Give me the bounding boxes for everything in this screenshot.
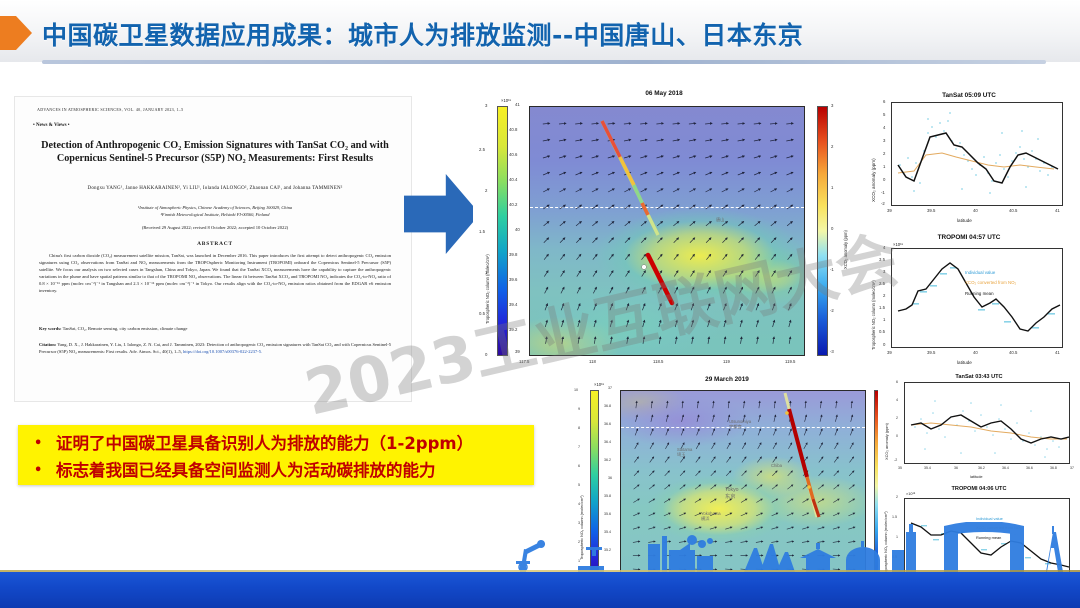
tropomi-exponent: ×10¹⁵ [893, 242, 903, 247]
tokyo-tansat-canvas [904, 382, 1070, 464]
paper-title: Detection of Anthropogenic CO₂ Emission … [41, 139, 389, 165]
tropomi-plot-title: TROPOMI 04:57 UTC [865, 234, 1073, 241]
tangshan-map-panel: 06 May 2018 ×10¹⁵ Tropospheric NO₂ colum… [473, 84, 855, 376]
city-label-saitama: Saitama埼玉 [677, 447, 692, 458]
xco2-colorbar [817, 106, 828, 356]
keywords-label: Key words: [39, 326, 62, 331]
tokyo-no2-exponent: ×10¹⁵ [594, 382, 604, 387]
tansat-plot-title: TanSat 05:09 UTC [865, 92, 1073, 99]
section-kicker: • News & Views • [33, 123, 70, 128]
no2-colorbar-exponent: ×10¹⁵ [501, 98, 511, 103]
tangshan-map-canvas: 唐山 [529, 106, 805, 356]
journal-header: ADVANCES IN ATMOSPHERIC SCIENCES, VOL. 4… [37, 107, 183, 112]
legend-running-mean: Running mean [965, 291, 994, 296]
footer-gold-rule [0, 570, 1080, 572]
figure-tangshan: 06 May 2018 ×10¹⁵ Tropospheric NO₂ colum… [473, 84, 1080, 376]
tangshan-map-title: 06 May 2018 [473, 90, 855, 97]
tokyo-tansat-ylabel: XCO₂ anomaly (ppm) [884, 423, 889, 460]
abstract-heading: ABSTRACT [55, 241, 375, 247]
doi-link[interactable]: https://doi.org/10.1007/s00376-022-2237-… [183, 349, 262, 354]
city-label-tokyo: Tokyo东京 [725, 487, 739, 500]
tansat-plot-canvas [891, 102, 1063, 206]
slide-header: 中国碳卫星数据应用成果：城市人为排放监测--中国唐山、日本东京 [0, 0, 1080, 78]
tokyo-tropomi-exponent: ×10¹⁵ [906, 492, 915, 496]
page-title: 中国碳卫星数据应用成果：城市人为排放监测--中国唐山、日本东京 [42, 16, 803, 52]
paper-screenshot: ADVANCES IN ATMOSPHERIC SCIENCES, VOL. 4… [14, 96, 412, 402]
tokyo-tansat-title: TanSat 03:43 UTC [878, 374, 1080, 380]
tropomi-ylabel: Tropospheric NO₂ column (molec/cm²) [871, 280, 876, 350]
callout-bullet-1: 证明了中国碳卫星具备识别人为排放的能力（1-2ppm） [18, 431, 534, 456]
tansat-xlabel: latitude [957, 218, 972, 223]
callout-list: 证明了中国碳卫星具备识别人为排放的能力（1-2ppm） 标志着我国已经具备空间监… [18, 425, 534, 483]
paper-keywords: Key words: TanSat, CO₂, Remote sensing, … [39, 325, 391, 332]
tokyo-map-title: 29 March 2019 [568, 376, 886, 383]
city-label-utsunomiya: Utsunomiya宇都宫 [729, 419, 751, 430]
title-divider [42, 60, 1046, 64]
legend-xco2-converted: XCO₂ converted from NO₂ [965, 280, 1016, 285]
city-label-chiba: Chiba [771, 463, 782, 468]
key-findings-callout: 证明了中国碳卫星具备识别人为排放的能力（1-2ppm） 标志着我国已经具备空间监… [18, 425, 534, 485]
tansat-ground-track [530, 107, 805, 356]
footer-blue-band [0, 572, 1080, 608]
no2-colorbar [497, 106, 508, 356]
tokyo-tansat-panel: TanSat 03:43 UTC Ratio: 2.28 × 10⁻¹⁶ ppm… [878, 372, 1080, 484]
citation-label: Citation: [39, 342, 56, 347]
arrow-right-icon [404, 174, 480, 254]
city-label-yokohama: Yokohama横浜 [701, 511, 721, 522]
no2-colorbar-label: Tropospheric NO₂ column (molec/cm²) [485, 254, 490, 324]
paper-affiliations: ¹Institute of Atmospheric Physics, Chine… [55, 204, 375, 218]
paper-dates: (Received 29 August 2022; revised 8 Octo… [55, 225, 375, 230]
tokyo-tansat-xlabel: latitude [970, 474, 983, 479]
tropomi-xlabel: latitude [957, 360, 972, 365]
city-label-tangshan: 唐山 [716, 217, 724, 223]
callout-bullet-2: 标志着我国已经具备空间监测人为活动碳排放的能力 [18, 458, 534, 483]
tansat-ylabel: XCO₂ anomaly (ppm) [871, 158, 876, 202]
abstract-body: China's first carbon dioxide (CO₂) measu… [39, 252, 391, 295]
keywords-value: TanSat, CO₂, Remote sensing, city carbon… [63, 326, 188, 331]
tangshan-tansat-panel: TanSat 05:09 UTC Ratio: 0.83 × 10⁻¹⁶ ppm… [865, 90, 1073, 232]
tropomi-plot-canvas [891, 248, 1063, 348]
legend-individual-value: Individual value [965, 270, 995, 275]
tangshan-tropomi-panel: TROPOMI 04:57 UTC ×10¹⁵ Tropospheric NO₂… [865, 232, 1073, 374]
paper-authors: Dongxu YANG¹, Janne HAKKARAINEN², Yi LIU… [55, 185, 375, 193]
tokyo-legend-individual-value: Individual value [976, 516, 1003, 521]
xco2-colorbar-label: XCO₂ anomaly (ppm) [843, 230, 848, 269]
paper-citation: Citation: Yang, D. X., J. Hakkarainen, Y… [39, 341, 391, 355]
